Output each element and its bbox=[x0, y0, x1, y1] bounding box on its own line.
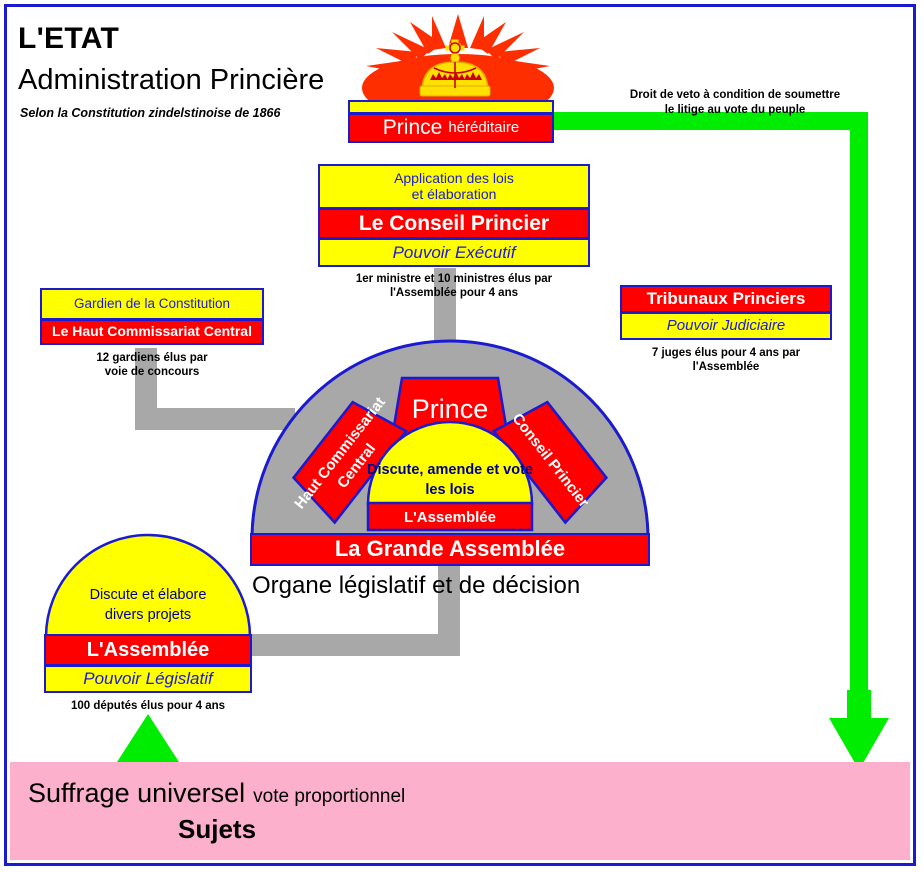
wedge-center-label: Prince bbox=[412, 394, 489, 424]
page-subtitle: Administration Princière bbox=[18, 64, 324, 97]
suffrage-band: Suffrage universelvote proportionnel Suj… bbox=[10, 762, 910, 860]
conseil-top-box[interactable]: Application des lois et élaboration bbox=[318, 164, 590, 209]
tribunaux-caption-line1: 7 juges élus pour 4 ans par bbox=[618, 346, 834, 360]
prince-box-strip bbox=[348, 100, 554, 114]
hemicycle-inner-line1: Discute, amende et vote bbox=[367, 462, 533, 478]
suffrage-label-big: Suffrage universel bbox=[28, 778, 245, 808]
commissariat-title-box[interactable]: Le Haut Commissariat Central bbox=[40, 319, 264, 345]
assemblee-title-box[interactable]: L'Assemblée bbox=[44, 634, 252, 666]
suffrage-label-small: vote proportionnel bbox=[253, 786, 405, 807]
tribunaux-title-box[interactable]: Tribunaux Princiers bbox=[620, 285, 832, 313]
conseil-caption-line1: 1er ministre et 10 ministres élus par bbox=[318, 272, 590, 286]
commissariat-top-box[interactable]: Gardien de la Constitution bbox=[40, 288, 264, 320]
prince-box[interactable]: Prince héréditaire bbox=[348, 113, 554, 143]
assemblee-caption: 100 députés élus pour 4 ans bbox=[38, 699, 258, 713]
grande-assemblee-bar[interactable]: La Grande Assemblée bbox=[250, 533, 650, 566]
veto-arrowhead-icon bbox=[826, 690, 892, 772]
sujets-label: Sujets bbox=[178, 814, 256, 845]
tribunaux-caption: 7 juges élus pour 4 ans par l'Assemblée bbox=[618, 346, 834, 375]
suffrage-arrow-icon bbox=[116, 714, 180, 764]
hemicycle-inner-line2: les lois bbox=[425, 482, 474, 498]
conseil-caption-line2: l'Assemblée pour 4 ans bbox=[318, 286, 590, 300]
veto-label: Droit de veto à condition de soumettre l… bbox=[600, 88, 870, 118]
conseil-top-line1: Application des lois bbox=[394, 171, 514, 187]
assemblee-dome-line1: Discute et élabore bbox=[90, 587, 207, 603]
assemblee-power-box[interactable]: Pouvoir Législatif bbox=[44, 665, 252, 693]
veto-label-line2: le litige au vote du peuple bbox=[600, 103, 870, 118]
suffrage-label: Suffrage universelvote proportionnel bbox=[28, 778, 405, 809]
veto-label-line1: Droit de veto à condition de soumettre bbox=[600, 88, 870, 103]
veto-line-vertical bbox=[850, 112, 868, 702]
hemicycle-subtitle: Organe législatif et de décision bbox=[252, 572, 672, 600]
commissariat-caption-line2: voie de concours bbox=[40, 365, 264, 379]
diagram-canvas: L'ETAT Administration Princière Selon la… bbox=[0, 0, 924, 872]
conseil-top-line2: et élaboration bbox=[412, 187, 497, 203]
conseil-power-box[interactable]: Pouvoir Exécutif bbox=[318, 238, 590, 267]
tribunaux-caption-line2: l'Assemblée bbox=[618, 360, 834, 374]
crown-icon bbox=[414, 36, 496, 102]
page-title: L'ETAT bbox=[18, 22, 119, 56]
commissariat-caption: 12 gardiens élus par voie de concours bbox=[40, 351, 264, 380]
prince-label-sub: héréditaire bbox=[448, 120, 519, 137]
commissariat-caption-line1: 12 gardiens élus par bbox=[40, 351, 264, 365]
conseil-caption: 1er ministre et 10 ministres élus par l'… bbox=[318, 272, 590, 301]
conseil-title-box[interactable]: Le Conseil Princier bbox=[318, 208, 590, 239]
prince-label: Prince bbox=[383, 116, 443, 140]
page-caption-constitution: Selon la Constitution zindelstinoise de … bbox=[20, 106, 280, 120]
hemicycle-graphic: Prince Haut Commissariat Central Conseil… bbox=[250, 326, 650, 541]
assemblee-dome: Discute et élabore divers projets bbox=[44, 533, 252, 639]
hemicycle-inner-bar-label: L'Assemblée bbox=[404, 509, 496, 526]
tribunaux-power-box[interactable]: Pouvoir Judiciaire bbox=[620, 312, 832, 340]
assemblee-dome-line2: divers projets bbox=[105, 607, 191, 623]
